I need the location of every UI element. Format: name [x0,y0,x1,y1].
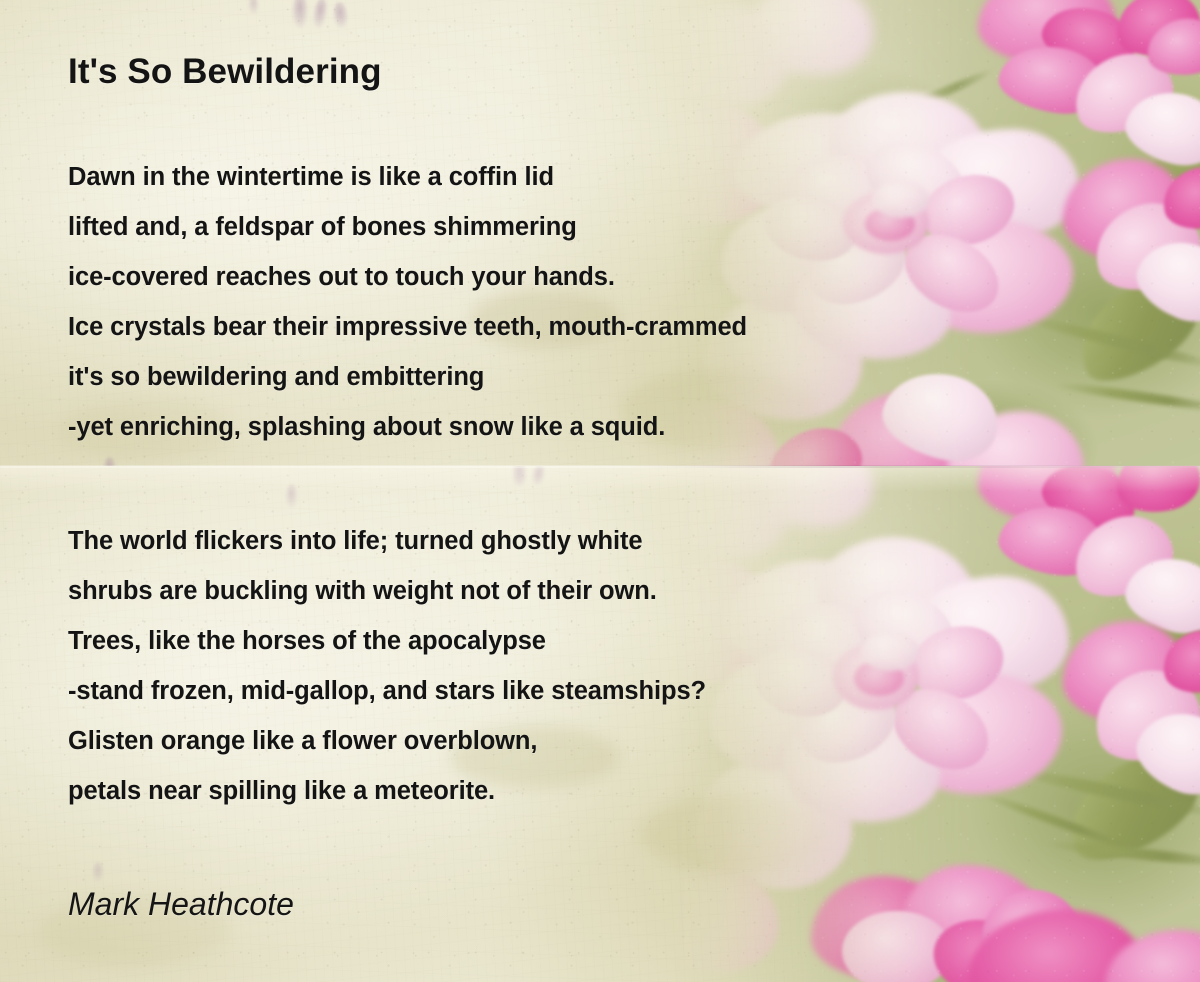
poem-line: Dawn in the wintertime is like a coffin … [68,163,554,192]
poem-line: lifted and, a feldspar of bones shimmeri… [68,213,577,242]
poem-line: it's so bewildering and embittering [68,363,484,392]
poem-line: Ice crystals bear their impressive teeth… [68,313,747,342]
poem-line: The world flickers into life; turned gho… [68,527,642,556]
poem-line: -yet enriching, splashing about snow lik… [68,413,665,442]
poem-line: ice-covered reaches out to touch your ha… [68,263,615,292]
poem-line: Trees, like the horses of the apocalypse [68,627,546,656]
page-title: It's So Bewildering [68,52,382,92]
poem-line: shrubs are buckling with weight not of t… [68,577,657,606]
poem-line: Glisten orange like a flower overblown, [68,727,537,756]
poem-line: -stand frozen, mid-gallop, and stars lik… [68,677,706,706]
poem-image-card: It's So Bewildering Dawn in the winterti… [0,0,1200,982]
poem-line: petals near spilling like a meteorite. [68,777,495,806]
poem-text-layer: It's So Bewildering Dawn in the winterti… [0,0,1200,982]
author-signature: Mark Heathcote [68,886,294,923]
